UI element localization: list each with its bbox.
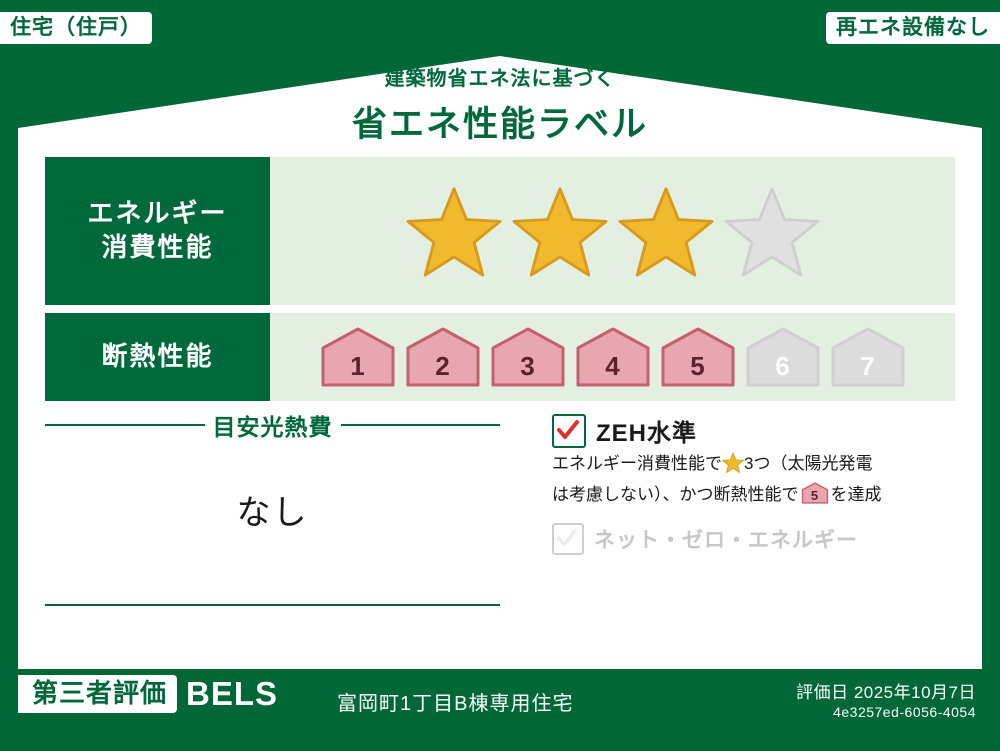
energy-performance-label: 住宅（住戸） 再エネ設備なし 建築物省エネ法に基づく 省エネ性能ラベル エネルギ… — [0, 0, 1000, 751]
energy-performance-row: エネルギー 消費性能 — [45, 157, 955, 305]
energy-star-rating — [270, 157, 955, 305]
insulation-level-scale: 1 2 3 4 — [270, 313, 955, 401]
insulation-house-7: 7 — [830, 326, 906, 388]
divider-left — [45, 424, 205, 426]
evaluation-date-label: 評価日 — [796, 683, 849, 702]
energy-performance-label-cell: エネルギー 消費性能 — [45, 157, 270, 305]
star-icon-filled-3 — [618, 185, 714, 277]
zeh-desc-part3: を達成 — [831, 485, 882, 504]
star-icon-filled-2 — [512, 185, 608, 277]
star-icon-filled-1 — [406, 185, 502, 277]
evaluation-date: 評価日 2025年10月7日 — [796, 678, 976, 703]
insulation-house-6: 6 — [745, 326, 821, 388]
zeh-title: ZEH水準 — [596, 413, 697, 448]
unchecked-box-icon — [552, 523, 584, 555]
utility-cost-heading: 目安光熱費 — [45, 408, 500, 442]
insulation-house-label-7: 7 — [860, 351, 874, 388]
insulation-house-label-6: 6 — [775, 351, 789, 388]
insulation-house-icon-inline-label: 5 — [801, 486, 829, 507]
zeh-desc-part1: エネルギー消費性能で — [552, 454, 722, 473]
zeh-description: エネルギー消費性能で 3つ（太陽光発電 は考慮しない）、かつ断熱性能で 5を達成 — [552, 450, 952, 508]
insulation-house-label-3: 3 — [520, 351, 534, 388]
insulation-house-5: 5 — [660, 326, 736, 388]
net-zero-energy-row: ネット・ゼロ・エネルギー — [552, 523, 858, 555]
divider-right — [341, 424, 501, 426]
check-icon — [552, 414, 586, 448]
insulation-label-cell: 断熱性能 — [45, 313, 270, 401]
insulation-house-3: 3 — [490, 326, 566, 388]
footer-bels-block: 第三者評価 BELS — [18, 675, 278, 713]
star-icon-empty-4 — [724, 185, 820, 277]
insulation-house-label-5: 5 — [690, 351, 704, 388]
evaluation-date-value: 2025年10月7日 — [854, 683, 976, 702]
insulation-house-icon-inline: 5 — [801, 482, 829, 504]
energy-label-line2: 消費性能 — [101, 231, 213, 265]
insulation-house-2: 2 — [405, 326, 481, 388]
building-name: 富岡町1丁目B棟専用住宅 — [337, 687, 573, 716]
evaluation-id: 4e3257ed-6056-4054 — [833, 704, 976, 720]
bels-logo: BELS — [186, 675, 278, 713]
zeh-heading: ZEH水準 — [552, 413, 697, 448]
utility-cost-bottom-rule — [45, 604, 500, 606]
utility-cost-value: なし — [45, 485, 500, 534]
net-zero-energy-label: ネット・ゼロ・エネルギー — [594, 524, 858, 554]
header-title: 省エネ性能ラベル — [0, 96, 1000, 147]
energy-label-line1: エネルギー — [87, 197, 227, 231]
header-subtitle: 建築物省エネ法に基づく — [0, 62, 1000, 91]
insulation-house-1: 1 — [320, 326, 396, 388]
insulation-house-label-4: 4 — [605, 351, 619, 388]
insulation-house-label-2: 2 — [435, 351, 449, 388]
insulation-house-4: 4 — [575, 326, 651, 388]
zeh-desc-part2: は考慮しない）、かつ断熱性能で — [552, 485, 799, 504]
insulation-house-label-1: 1 — [350, 351, 364, 388]
utility-cost-heading-text: 目安光熱費 — [213, 408, 333, 442]
renewable-equipment-tag: 再エネ設備なし — [826, 12, 1000, 44]
insulation-performance-row: 断熱性能 1 2 3 — [45, 313, 955, 401]
third-party-evaluation-tag: 第三者評価 — [18, 675, 177, 713]
housing-type-tag: 住宅（住戸） — [0, 12, 152, 44]
zeh-desc-star-count: 3つ（太陽光発電 — [744, 454, 872, 473]
star-icon-inline — [722, 452, 744, 481]
